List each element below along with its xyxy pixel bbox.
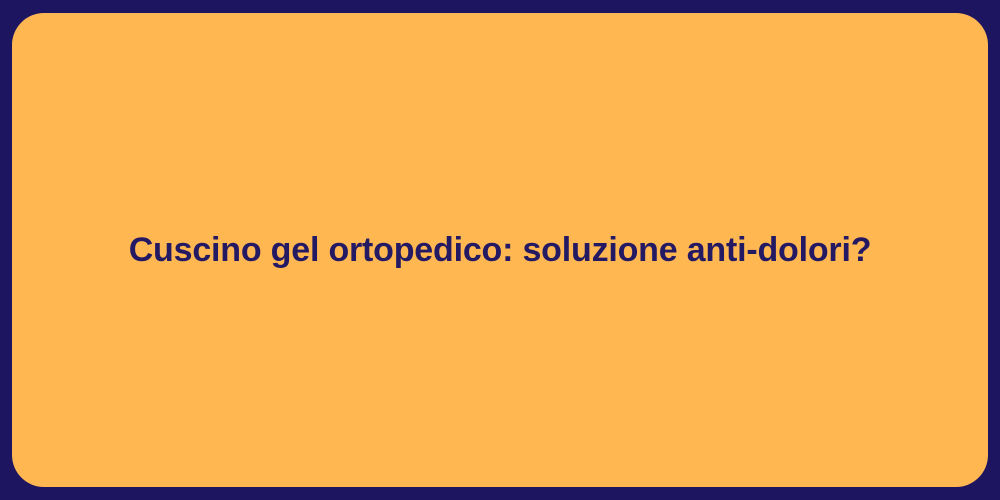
banner-container: Cuscino gel ortopedico: soluzione anti-d… <box>0 0 1000 500</box>
headline-text: Cuscino gel ortopedico: soluzione anti-d… <box>12 228 988 272</box>
banner-card: Cuscino gel ortopedico: soluzione anti-d… <box>12 13 988 487</box>
